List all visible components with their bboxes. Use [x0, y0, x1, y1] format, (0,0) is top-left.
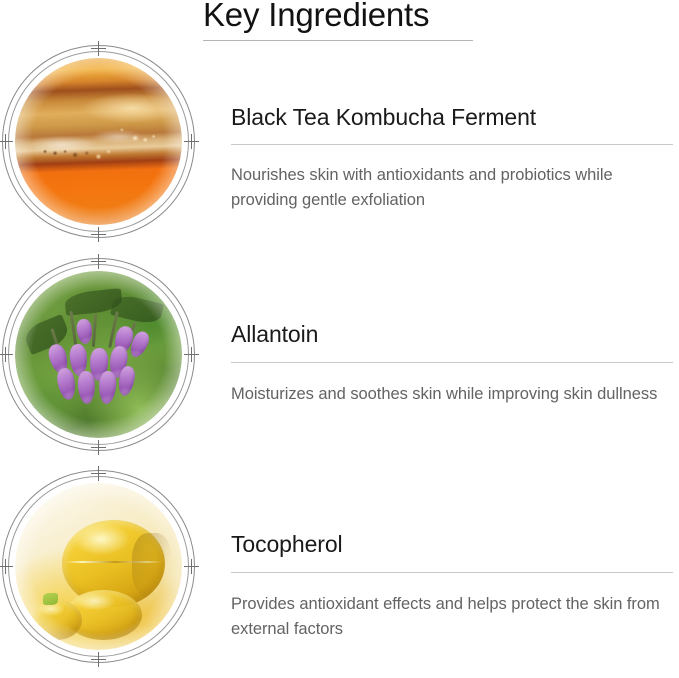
crosshair-bottom-icon	[91, 652, 106, 667]
ingredient-name: Black Tea Kombucha Ferment	[231, 103, 673, 131]
ingredient-text-block: Black Tea Kombucha Ferment Nourishes ski…	[231, 103, 673, 213]
page-title: Key Ingredients	[203, 0, 503, 36]
softgel-main-shadow	[132, 533, 172, 596]
ingredient-description: Provides antioxidant effects and helps p…	[231, 592, 673, 642]
ingredient-name: Allantoin	[231, 320, 673, 348]
softgel-tertiary	[32, 600, 82, 640]
ingredient-photo-tocopherol	[15, 483, 182, 650]
green-accent-chip	[43, 593, 58, 605]
softgel-capsule-art	[15, 483, 182, 650]
ingredient-image-frame	[2, 470, 195, 663]
ingredient-text-block: Allantoin Moisturizes and soothes skin w…	[231, 320, 673, 407]
crosshair-right-icon	[184, 559, 199, 574]
crosshair-bottom-icon	[91, 440, 106, 455]
ingredient-description: Moisturizes and soothes skin while impro…	[231, 382, 673, 407]
crosshair-left-icon	[0, 559, 13, 574]
ingredient-divider	[231, 572, 673, 573]
crosshair-right-icon	[184, 134, 199, 149]
kombucha-bubbles	[15, 58, 182, 225]
crosshair-top-icon	[91, 254, 106, 269]
ingredient-image-frame	[2, 258, 195, 451]
ingredient-divider	[231, 144, 673, 145]
ingredient-text-block: Tocopherol Provides antioxidant effects …	[231, 530, 673, 642]
comfrey-foliage-art	[15, 271, 182, 438]
ingredient-image-frame	[2, 45, 195, 238]
ingredient-photo-comfrey	[15, 271, 182, 438]
ingredient-divider	[231, 362, 673, 363]
crosshair-top-icon	[91, 466, 106, 481]
kombucha-liquid-art	[15, 58, 182, 225]
crosshair-left-icon	[0, 347, 13, 362]
ingredient-photo-kombucha	[15, 58, 182, 225]
crosshair-bottom-icon	[91, 227, 106, 242]
crosshair-top-icon	[91, 41, 106, 56]
ingredient-name: Tocopherol	[231, 530, 673, 558]
ingredient-description: Nourishes skin with antioxidants and pro…	[231, 163, 673, 213]
comfrey-flower-cluster	[15, 271, 182, 438]
page-title-underline	[203, 40, 473, 41]
crosshair-left-icon	[0, 134, 13, 149]
crosshair-right-icon	[184, 347, 199, 362]
